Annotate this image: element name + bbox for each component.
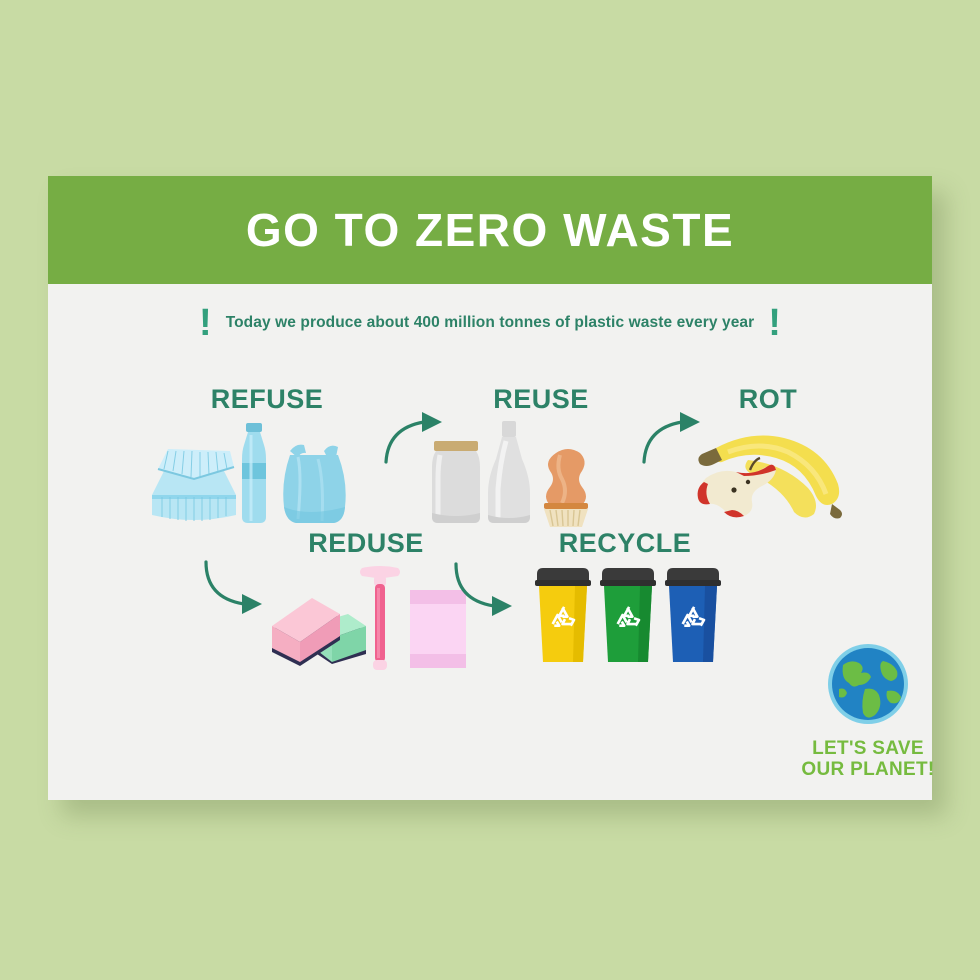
title-banner: GO TO ZERO WASTE <box>48 176 932 284</box>
recycle-bin-blue-icon <box>665 568 721 662</box>
planet-block: LET'S SAVE OUR PLANET! <box>773 641 963 781</box>
scrub-brush-icon <box>544 449 588 527</box>
arrow-reduse-to-recycle <box>448 558 528 622</box>
recycle-bin-yellow-icon <box>535 568 591 662</box>
recycle-illustration <box>531 558 721 668</box>
arrow-rot-to-reduse <box>198 556 278 620</box>
plastic-bag-icon <box>283 445 345 523</box>
exclamation-left-icon: ! <box>199 304 212 342</box>
reduse-illustration <box>270 564 470 674</box>
step-label-recycle: RECYCLE <box>505 528 745 559</box>
arrow-reuse-to-rot <box>636 408 712 466</box>
earth-globe-icon <box>825 641 911 727</box>
refuse-illustration <box>148 421 373 531</box>
page-title: GO TO ZERO WASTE <box>246 203 734 257</box>
step-label-refuse: REFUSE <box>172 384 362 415</box>
glass-bottle-icon <box>488 421 530 523</box>
foam-takeout-container-icon <box>152 449 236 521</box>
planet-caption: LET'S SAVE OUR PLANET! <box>773 738 963 781</box>
rot-illustration <box>688 426 848 526</box>
arrow-refuse-to-reuse <box>378 408 454 466</box>
plastic-water-bottle-icon <box>242 423 266 523</box>
recycle-bin-green-icon <box>600 568 656 662</box>
step-label-reuse: REUSE <box>446 384 636 415</box>
subtitle-text: Today we produce about 400 million tonne… <box>226 314 755 332</box>
subtitle-row: ! Today we produce about 400 million ton… <box>48 304 932 342</box>
exclamation-right-icon: ! <box>768 304 781 342</box>
poster-card: GO TO ZERO WASTE ! Today we produce abou… <box>48 176 932 800</box>
razor-icon <box>360 566 400 670</box>
step-label-reduse: REDUSE <box>256 528 476 559</box>
